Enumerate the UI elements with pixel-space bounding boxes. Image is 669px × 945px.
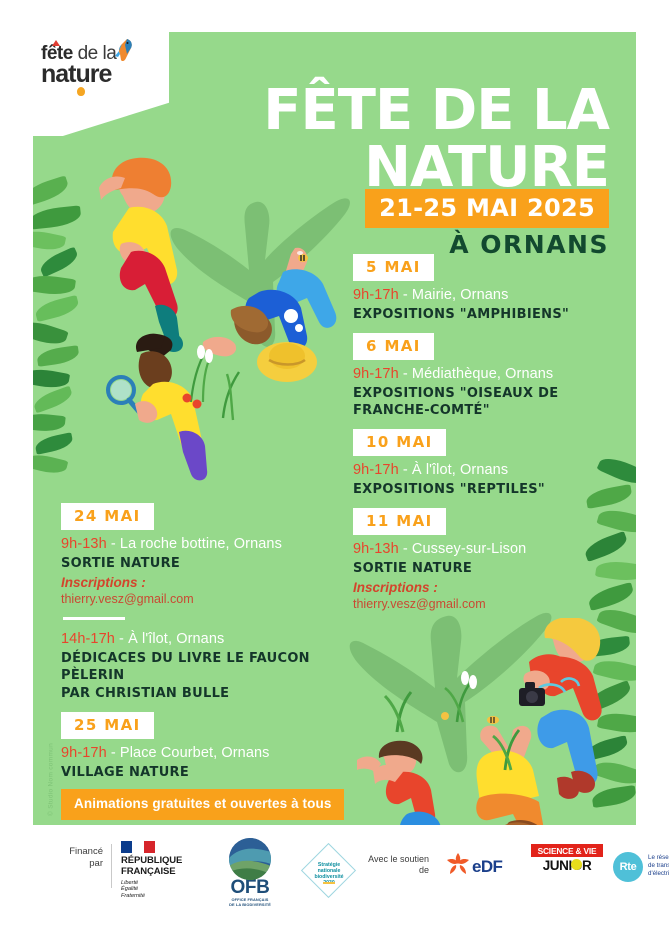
event-place: - Médiathèque, Ornans: [399, 366, 554, 382]
motto-fraternite: Fraternité: [121, 893, 199, 899]
bee-icon: [295, 250, 311, 264]
event-date-badge: 5 MAI: [353, 254, 434, 281]
snb-underline: [323, 882, 335, 884]
event-item: 11 MAI 9h-13h - Cussey-sur-Lison SORTIE …: [353, 508, 615, 612]
event-description: EXPOSITIONS "OISEAUX DE FRANCHE-COMTÉ": [353, 385, 615, 419]
event-when: 9h-17h - Mairie, Ornans: [353, 286, 615, 305]
event-hours: 9h-17h: [61, 745, 107, 761]
flowers-left: [173, 322, 253, 432]
event-date-badge: 6 MAI: [353, 333, 434, 360]
event-when: 9h-17h - Place Courbet, Ornans: [61, 744, 351, 763]
event-date-badge: 10 MAI: [353, 429, 446, 456]
ofb-acronym: OFB: [210, 878, 290, 898]
event-email[interactable]: thierry.vesz@gmail.com: [61, 591, 351, 607]
page-title-line-2: NATURE: [364, 140, 609, 196]
ofb-logo: OFB OFFICE FRANÇAIS DE LA BIODIVERSITÉ: [210, 838, 290, 907]
ofb-circle-icon: [229, 838, 271, 880]
logo-line-2: nature: [41, 62, 111, 87]
republique-francaise-logo: RÉPUBLIQUE FRANÇAISE Liberté Égalité Fra…: [121, 841, 199, 899]
event-description-line-2: PAR CHRISTIAN BULLE: [61, 685, 351, 702]
event-when: 9h-13h - Cussey-sur-Lison: [353, 540, 615, 559]
event-item: 25 MAI 9h-17h - Place Courbet, Ornans VI…: [61, 712, 351, 781]
event-place: - La roche bottine, Ornans: [107, 536, 282, 552]
science-vie-banner: SCIENCE & VIE: [531, 844, 603, 857]
event-date-badge: 25 MAI: [61, 712, 154, 739]
rte-line-1: Le réseau: [648, 854, 669, 861]
page-title-line-1: FÊTE DE LA: [263, 84, 609, 138]
event-hours: 9h-13h: [61, 536, 107, 552]
event-place: - Cussey-sur-Lison: [399, 541, 527, 557]
kingfisher-icon: [113, 38, 135, 64]
event-description: VILLAGE NATURE: [61, 764, 351, 781]
accent-icon: [52, 40, 61, 46]
event-hours: 9h-13h: [353, 541, 399, 557]
section-divider: [63, 617, 125, 620]
event-place: - À l'îlot, Ornans: [399, 462, 508, 478]
event-date-badge: 11 MAI: [353, 508, 446, 535]
french-flag-icon: [121, 841, 155, 853]
events-column-right: 5 MAI 9h-17h - Mairie, Ornans EXPOSITION…: [353, 254, 615, 622]
credit-text: © Studio Nom commun: [48, 735, 55, 825]
event-place: - Place Courbet, Ornans: [107, 745, 270, 761]
junior-ball-icon: [571, 859, 582, 870]
event-item: 6 MAI 9h-17h - Médiathèque, Ornans EXPOS…: [353, 333, 615, 419]
event-hours: 14h-17h: [61, 631, 115, 647]
grass-tufts: [373, 652, 553, 812]
ofb-sub-2: DE LA BIODIVERSITÉ: [210, 903, 290, 908]
logo-dot-icon: [77, 87, 85, 96]
event-description: EXPOSITIONS "AMPHIBIENS": [353, 306, 615, 323]
event-when: 14h-17h - À l'îlot, Ornans: [61, 630, 351, 649]
sponsors-footer: Financépar RÉPUBLIQUE FRANÇAISE Liberté …: [33, 832, 636, 927]
event-description: DÉDICACES DU LIVRE LE FAUCON PÈLERIN: [61, 650, 351, 684]
edf-wordmark: eDF: [472, 857, 502, 877]
poster-canvas: fête de la nature FÊTE DE LA NATURE 21-2…: [33, 32, 636, 825]
event-description: SORTIE NATURE: [353, 560, 615, 577]
supported-by-label: Avec le soutiende: [355, 854, 429, 876]
event-when: 9h-13h - La roche bottine, Ornans: [61, 535, 351, 554]
junior-wordmark: JUNIOR: [531, 858, 603, 873]
event-item: 10 MAI 9h-17h - À l'îlot, Ornans EXPOSIT…: [353, 429, 615, 498]
rte-tagline: Le réseau de transport d'électricité: [648, 854, 669, 878]
financed-by-label: Financépar: [41, 846, 103, 870]
event-item: 5 MAI 9h-17h - Mairie, Ornans EXPOSITION…: [353, 254, 615, 323]
event-email[interactable]: thierry.vesz@gmail.com: [353, 596, 615, 612]
event-description: EXPOSITIONS "REPTILES": [353, 481, 615, 498]
event-hours: 9h-17h: [353, 462, 399, 478]
footer-divider: [111, 844, 112, 888]
rte-circle-icon: Rte: [613, 852, 643, 882]
event-inscriptions-label: Inscriptions :: [353, 580, 615, 596]
event-place: - À l'îlot, Ornans: [115, 631, 224, 647]
rte-line-3: d'électricité: [648, 870, 669, 877]
event-date-badge: 24 MAI: [61, 503, 154, 530]
rte-line-2: de transport: [648, 862, 669, 869]
strategie-nationale-biodiversite-logo: Stratégie nationale biodiversité 2030: [296, 844, 362, 896]
free-admission-banner: Animations gratuites et ouvertes à tous: [61, 789, 344, 820]
event-hours: 9h-17h: [353, 366, 399, 382]
science-vie-junior-logo: SCIENCE & VIE JUNIOR: [531, 844, 605, 873]
event-item: 14h-17h - À l'îlot, Ornans DÉDICACES DU …: [61, 630, 351, 702]
republique-line-1: RÉPUBLIQUE: [121, 856, 199, 867]
event-when: 9h-17h - Médiathèque, Ornans: [353, 365, 615, 384]
republique-line-2: FRANÇAISE: [121, 867, 199, 878]
title-dates-badge: 21-25 MAI 2025: [365, 189, 609, 228]
event-inscriptions-label: Inscriptions :: [61, 575, 351, 591]
event-when: 9h-17h - À l'îlot, Ornans: [353, 461, 615, 480]
edf-flower-icon: [445, 852, 471, 878]
event-place: - Mairie, Ornans: [399, 287, 509, 303]
event-item: 24 MAI 9h-13h - La roche bottine, Ornans…: [61, 503, 351, 620]
event-description: SORTIE NATURE: [61, 555, 351, 572]
poster-root: fête de la nature FÊTE DE LA NATURE 21-2…: [0, 0, 669, 945]
events-column-left: 24 MAI 9h-13h - La roche bottine, Ornans…: [61, 503, 351, 791]
event-hours: 9h-17h: [353, 287, 399, 303]
fete-de-la-nature-logo: fête de la nature: [33, 32, 169, 136]
